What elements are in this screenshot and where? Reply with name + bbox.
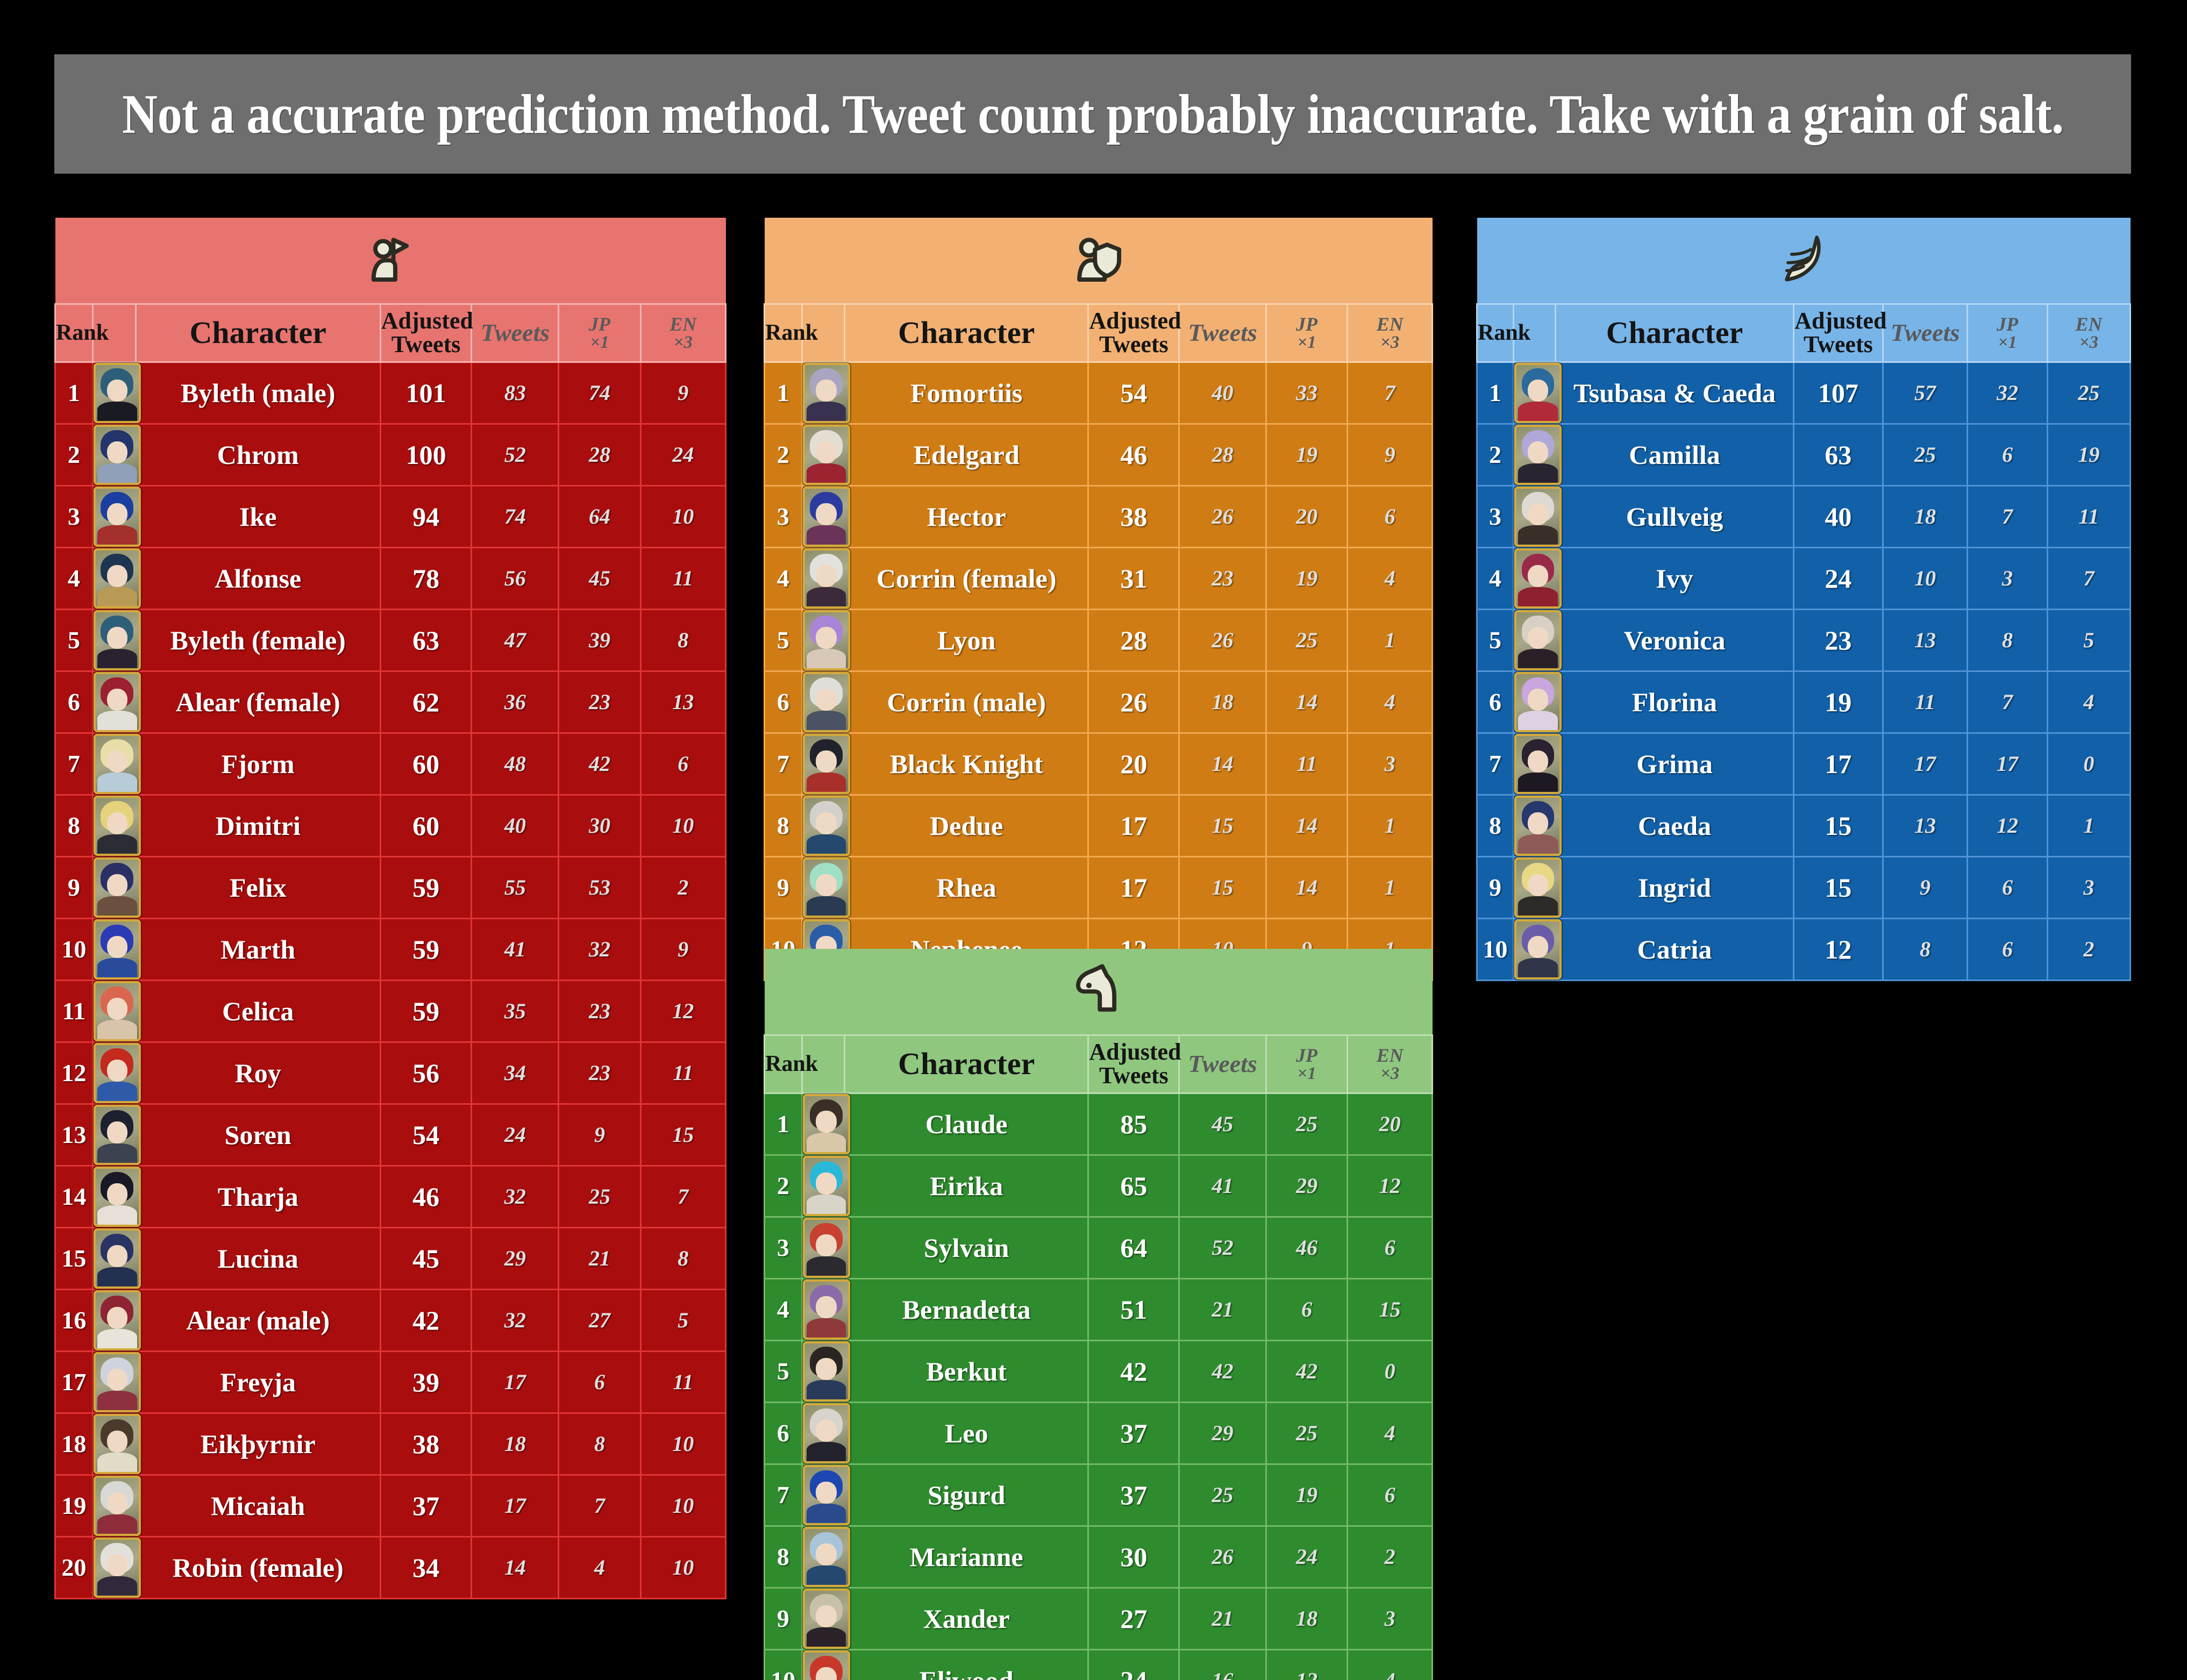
cell-adjusted-tweets: 12 — [1794, 918, 1883, 980]
cell-tweets: 29 — [472, 1227, 559, 1289]
avatar — [803, 1403, 850, 1463]
avatar — [94, 1105, 141, 1165]
table-row[interactable]: 2 Camilla 63 25 6 19 — [1477, 424, 2131, 485]
cell-jp-tweets: 6 — [1968, 856, 2047, 918]
cell-portrait — [92, 424, 136, 485]
cell-jp-tweets: 19 — [1266, 547, 1348, 609]
table-row[interactable]: 6 Leo 37 29 25 4 — [765, 1402, 1433, 1464]
cell-en-tweets: 10 — [640, 485, 725, 547]
cell-character-name: Alear (male) — [136, 1289, 380, 1351]
cell-adjusted-tweets: 101 — [380, 362, 472, 424]
cell-character-name: Ingrid — [1555, 856, 1793, 918]
table-row[interactable]: 15 Lucina 45 29 21 8 — [55, 1227, 726, 1289]
avatar — [94, 734, 141, 794]
cell-en-tweets: 10 — [640, 1536, 725, 1598]
cell-character-name: Sylvain — [845, 1217, 1088, 1278]
column-header-rank: Rank — [765, 1035, 802, 1093]
cell-portrait — [92, 1289, 136, 1351]
cell-rank: 10 — [55, 918, 93, 980]
cell-en-tweets: 9 — [640, 362, 725, 424]
table-row[interactable]: 1 Claude 85 45 25 20 — [765, 1093, 1433, 1155]
table-row[interactable]: 6 Corrin (male) 26 18 14 4 — [765, 671, 1433, 733]
column-header-tweets: Tweets — [1179, 1035, 1266, 1093]
cell-tweets: 34 — [472, 1042, 559, 1104]
avatar — [94, 610, 141, 670]
cell-en-tweets: 24 — [640, 424, 725, 485]
avatar — [94, 1476, 141, 1536]
table-header-row: Rank Character AdjustedTweets Tweets JP×… — [55, 304, 726, 362]
cell-tweets: 13 — [1883, 795, 1968, 856]
cell-adjusted-tweets: 100 — [380, 424, 472, 485]
cell-adjusted-tweets: 46 — [380, 1166, 472, 1227]
cell-portrait — [802, 1649, 844, 1680]
cell-adjusted-tweets: 64 — [1088, 1217, 1179, 1278]
cell-tweets: 25 — [1179, 1464, 1266, 1526]
cell-en-tweets: 20 — [1348, 1093, 1433, 1155]
table-header-row: Rank Character AdjustedTweets Tweets JP×… — [765, 1035, 1433, 1093]
cell-en-tweets: 11 — [640, 1351, 725, 1413]
ranking-table: Rank Character AdjustedTweets Tweets JP×… — [54, 218, 726, 1599]
table-row[interactable]: 10 Marth 59 41 32 9 — [55, 918, 726, 980]
cell-rank: 7 — [765, 1464, 802, 1526]
column-header-rank: Rank — [55, 304, 93, 362]
table-row[interactable]: 20 Robin (female) 34 14 4 10 — [55, 1536, 726, 1598]
table-row[interactable]: 14 Tharja 46 32 25 7 — [55, 1166, 726, 1227]
cell-adjusted-tweets: 46 — [1088, 424, 1179, 485]
cell-rank: 3 — [765, 485, 802, 547]
cell-rank: 4 — [1477, 547, 1514, 609]
avatar — [94, 1043, 141, 1103]
cell-en-tweets: 2 — [2047, 918, 2130, 980]
cell-jp-tweets: 25 — [1266, 1402, 1348, 1464]
cell-character-name: Corrin (male) — [845, 671, 1088, 733]
cell-adjusted-tweets: 31 — [1088, 547, 1179, 609]
cell-portrait — [802, 485, 844, 547]
cell-rank: 16 — [55, 1289, 93, 1351]
cell-rank: 2 — [1477, 424, 1514, 485]
cell-portrait — [92, 609, 136, 671]
cell-character-name: Alear (female) — [136, 671, 380, 733]
avatar — [94, 1352, 141, 1412]
cell-en-tweets: 13 — [640, 671, 725, 733]
cell-jp-tweets: 6 — [1968, 424, 2047, 485]
cell-character-name: Roy — [136, 1042, 380, 1104]
table-row[interactable]: 7 Fjorm 60 48 42 6 — [55, 733, 726, 795]
cell-rank: 1 — [765, 1093, 802, 1155]
cell-portrait — [802, 1155, 844, 1217]
avatar — [803, 857, 850, 918]
table-row[interactable]: 4 Bernadetta 51 21 6 15 — [765, 1278, 1433, 1340]
avatar — [94, 363, 141, 423]
cell-en-tweets: 6 — [1348, 1464, 1433, 1526]
table-type-banner — [765, 949, 1433, 1035]
cell-tweets: 47 — [472, 609, 559, 671]
table-row[interactable]: 6 Alear (female) 62 36 23 13 — [55, 671, 726, 733]
table-row[interactable]: 7 Grima 17 17 17 0 — [1477, 733, 2131, 795]
table-row[interactable]: 1 Byleth (male) 101 83 74 9 — [55, 362, 726, 424]
ranking-table: Rank Character AdjustedTweets Tweets JP×… — [764, 949, 1433, 1680]
cell-en-tweets: 5 — [640, 1289, 725, 1351]
cell-jp-tweets: 6 — [1266, 1278, 1348, 1340]
cell-rank: 12 — [55, 1042, 93, 1104]
cell-portrait — [92, 980, 136, 1042]
cell-rank: 7 — [55, 733, 93, 795]
table-row[interactable]: 8 Marianne 30 26 24 2 — [765, 1526, 1433, 1588]
table-row[interactable]: 13 Soren 54 24 9 15 — [55, 1104, 726, 1166]
cell-jp-tweets: 33 — [1266, 362, 1348, 424]
cell-tweets: 11 — [1883, 671, 1968, 733]
cell-jp-tweets: 14 — [1266, 856, 1348, 918]
cell-adjusted-tweets: 17 — [1088, 856, 1179, 918]
table-row[interactable]: 4 Alfonse 78 56 45 11 — [55, 547, 726, 609]
cell-portrait — [802, 1340, 844, 1402]
cell-portrait — [802, 1217, 844, 1278]
cell-jp-tweets: 12 — [1266, 1649, 1348, 1680]
flying-ranking-panel: Rank Character AdjustedTweets Tweets JP×… — [1476, 218, 2131, 981]
avatar — [803, 1650, 850, 1680]
cell-rank: 8 — [1477, 795, 1514, 856]
cell-portrait — [92, 1166, 136, 1227]
infantry-pawn-icon — [360, 229, 421, 289]
avatar — [1514, 610, 1562, 670]
flying-wing-icon — [1773, 229, 1834, 289]
cell-jp-tweets: 14 — [1266, 671, 1348, 733]
cell-tweets: 23 — [1179, 547, 1266, 609]
table-row[interactable]: 3 Sylvain 64 52 46 6 — [765, 1217, 1433, 1278]
table-row[interactable]: 8 Dedue 17 15 14 1 — [765, 795, 1433, 856]
cell-character-name: Dedue — [845, 795, 1088, 856]
cell-character-name: Gullveig — [1555, 485, 1793, 547]
cell-rank: 6 — [765, 1402, 802, 1464]
cell-rank: 9 — [765, 1588, 802, 1649]
avatar — [803, 1589, 850, 1649]
table-row[interactable]: 2 Eirika 65 41 29 12 — [765, 1155, 1433, 1217]
cell-jp-tweets: 25 — [559, 1166, 640, 1227]
cell-jp-tweets: 24 — [1266, 1526, 1348, 1588]
cell-tweets: 17 — [472, 1351, 559, 1413]
cell-character-name: Celica — [136, 980, 380, 1042]
table-row[interactable]: 9 Xander 27 21 18 3 — [765, 1588, 1433, 1649]
cell-jp-tweets: 23 — [559, 980, 640, 1042]
cell-character-name: Lucina — [136, 1227, 380, 1289]
cell-jp-tweets: 42 — [1266, 1340, 1348, 1402]
avatar — [803, 1218, 850, 1278]
cell-portrait — [802, 1093, 844, 1155]
cell-jp-tweets: 29 — [1266, 1155, 1348, 1217]
cell-rank: 7 — [765, 733, 802, 795]
cell-adjusted-tweets: 24 — [1794, 547, 1883, 609]
cell-rank: 1 — [765, 362, 802, 424]
cell-jp-tweets: 45 — [559, 547, 640, 609]
cell-en-tweets: 12 — [640, 980, 725, 1042]
column-header-character: Character — [845, 304, 1088, 362]
column-header-rank: Rank — [765, 304, 802, 362]
cell-adjusted-tweets: 15 — [1794, 795, 1883, 856]
cell-portrait — [802, 733, 844, 795]
cell-jp-tweets: 7 — [559, 1475, 640, 1536]
cell-jp-tweets: 19 — [1266, 1464, 1348, 1526]
table-row[interactable]: 10 Catria 12 8 6 2 — [1477, 918, 2131, 980]
cell-jp-tweets: 42 — [559, 733, 640, 795]
cell-jp-tweets: 25 — [1266, 609, 1348, 671]
cell-portrait — [802, 362, 844, 424]
table-row[interactable]: 19 Micaiah 37 17 7 10 — [55, 1475, 726, 1536]
cell-character-name: Felix — [136, 856, 380, 918]
cell-jp-tweets: 11 — [1266, 733, 1348, 795]
cell-tweets: 32 — [472, 1166, 559, 1227]
cell-en-tweets: 7 — [640, 1166, 725, 1227]
column-header-jp: JP×1 — [1266, 304, 1348, 362]
cell-tweets: 45 — [1179, 1093, 1266, 1155]
cell-jp-tweets: 23 — [559, 1042, 640, 1104]
cell-rank: 10 — [1477, 918, 1514, 980]
cell-jp-tweets: 21 — [559, 1227, 640, 1289]
cell-tweets: 24 — [472, 1104, 559, 1166]
cell-rank: 5 — [1477, 609, 1514, 671]
cell-adjusted-tweets: 38 — [1088, 485, 1179, 547]
cell-rank: 10 — [765, 1649, 802, 1680]
cell-en-tweets: 1 — [2047, 795, 2130, 856]
cell-character-name: Lyon — [845, 609, 1088, 671]
cell-character-name: Ivy — [1555, 547, 1793, 609]
cell-tweets: 10 — [1883, 547, 1968, 609]
table-row[interactable]: 10 Eliwood 24 16 12 4 — [765, 1649, 1433, 1680]
cell-tweets: 28 — [1179, 424, 1266, 485]
table-row[interactable]: 12 Roy 56 34 23 11 — [55, 1042, 726, 1104]
cell-rank: 6 — [1477, 671, 1514, 733]
cell-rank: 15 — [55, 1227, 93, 1289]
cell-character-name: Eikþyrnir — [136, 1413, 380, 1475]
cell-en-tweets: 7 — [2047, 547, 2130, 609]
cell-en-tweets: 0 — [2047, 733, 2130, 795]
cell-rank: 1 — [55, 362, 93, 424]
cell-rank: 4 — [765, 1278, 802, 1340]
cell-jp-tweets: 18 — [1266, 1588, 1348, 1649]
table-row[interactable]: 6 Florina 19 11 7 4 — [1477, 671, 2131, 733]
cell-jp-tweets: 8 — [1968, 609, 2047, 671]
cell-tweets: 40 — [472, 795, 559, 856]
cell-portrait — [1514, 856, 1556, 918]
cell-character-name: Byleth (male) — [136, 362, 380, 424]
armored-ranking-panel: Rank Character AdjustedTweets Tweets JP×… — [764, 218, 1433, 981]
avatar — [803, 1156, 850, 1216]
table-row[interactable]: 8 Dimitri 60 40 30 10 — [55, 795, 726, 856]
table-row[interactable]: 18 Eikþyrnir 38 18 8 10 — [55, 1413, 726, 1475]
cell-en-tweets: 11 — [2047, 485, 2130, 547]
cell-tweets: 18 — [472, 1413, 559, 1475]
cell-character-name: Fjorm — [136, 733, 380, 795]
table-row[interactable]: 2 Chrom 100 52 28 24 — [55, 424, 726, 485]
cell-tweets: 32 — [472, 1289, 559, 1351]
avatar — [1514, 734, 1562, 794]
column-header-rank: Rank — [1477, 304, 1514, 362]
cell-tweets: 15 — [1179, 856, 1266, 918]
cavalry-ranking-panel: Rank Character AdjustedTweets Tweets JP×… — [764, 949, 1433, 1680]
table-row[interactable]: 5 Lyon 28 26 25 1 — [765, 609, 1433, 671]
cell-rank: 5 — [765, 609, 802, 671]
cell-jp-tweets: 17 — [1968, 733, 2047, 795]
cell-jp-tweets: 32 — [1968, 362, 2047, 424]
avatar — [94, 1414, 141, 1474]
table-row[interactable]: 3 Hector 38 26 20 6 — [765, 485, 1433, 547]
cell-tweets: 29 — [1179, 1402, 1266, 1464]
column-header-adjusted-tweets: AdjustedTweets — [1794, 304, 1883, 362]
cell-character-name: Corrin (female) — [845, 547, 1088, 609]
cell-tweets: 21 — [1179, 1588, 1266, 1649]
table-row[interactable]: 2 Edelgard 46 28 19 9 — [765, 424, 1433, 485]
cell-adjusted-tweets: 54 — [1088, 362, 1179, 424]
cell-jp-tweets: 4 — [559, 1536, 640, 1598]
cell-adjusted-tweets: 27 — [1088, 1588, 1179, 1649]
cell-character-name: Catria — [1555, 918, 1793, 980]
cell-tweets: 55 — [472, 856, 559, 918]
cell-character-name: Tsubasa & Caeda — [1555, 362, 1793, 424]
table-row[interactable]: 5 Berkut 42 42 42 0 — [765, 1340, 1433, 1402]
cell-jp-tweets: 9 — [559, 1104, 640, 1166]
column-header-character: Character — [1555, 304, 1793, 362]
cell-tweets: 35 — [472, 980, 559, 1042]
table-row[interactable]: 9 Felix 59 55 53 2 — [55, 856, 726, 918]
cell-en-tweets: 25 — [2047, 362, 2130, 424]
table-type-banner — [765, 218, 1433, 304]
cell-character-name: Berkut — [845, 1340, 1088, 1402]
table-row[interactable]: 3 Ike 94 74 64 10 — [55, 485, 726, 547]
table-row[interactable]: 5 Veronica 23 13 8 5 — [1477, 609, 2131, 671]
column-header-jp: JP×1 — [1266, 1035, 1348, 1093]
cell-en-tweets: 15 — [640, 1104, 725, 1166]
table-row[interactable]: 1 Tsubasa & Caeda 107 57 32 25 — [1477, 362, 2131, 424]
cell-character-name: Freyja — [136, 1351, 380, 1413]
cell-jp-tweets: 3 — [1968, 547, 2047, 609]
table-row[interactable]: 17 Freyja 39 17 6 11 — [55, 1351, 726, 1413]
cell-character-name: Rhea — [845, 856, 1088, 918]
table-row[interactable]: 5 Byleth (female) 63 47 39 8 — [55, 609, 726, 671]
cell-adjusted-tweets: 37 — [380, 1475, 472, 1536]
column-header-tweets: Tweets — [472, 304, 559, 362]
column-header-en: EN×3 — [640, 304, 725, 362]
cell-portrait — [1514, 547, 1556, 609]
cell-rank: 9 — [765, 856, 802, 918]
cell-portrait — [802, 1402, 844, 1464]
cell-rank: 4 — [765, 547, 802, 609]
cell-adjusted-tweets: 38 — [380, 1413, 472, 1475]
cell-character-name: Hector — [845, 485, 1088, 547]
table-row[interactable]: 3 Gullveig 40 18 7 11 — [1477, 485, 2131, 547]
avatar — [1514, 857, 1562, 918]
avatar — [803, 610, 850, 670]
cell-portrait — [802, 856, 844, 918]
table-row[interactable]: 7 Black Knight 20 14 11 3 — [765, 733, 1433, 795]
cell-adjusted-tweets: 51 — [1088, 1278, 1179, 1340]
cell-en-tweets: 4 — [1348, 1402, 1433, 1464]
cell-character-name: Black Knight — [845, 733, 1088, 795]
cell-jp-tweets: 23 — [559, 671, 640, 733]
avatar — [1514, 363, 1562, 423]
avatar — [803, 1279, 850, 1340]
cell-adjusted-tweets: 60 — [380, 795, 472, 856]
table-row[interactable]: 11 Celica 59 35 23 12 — [55, 980, 726, 1042]
cell-portrait — [1514, 733, 1556, 795]
cell-en-tweets: 10 — [640, 795, 725, 856]
table-row[interactable]: 8 Caeda 15 13 12 1 — [1477, 795, 2131, 856]
cell-portrait — [92, 1227, 136, 1289]
table-row[interactable]: 9 Rhea 17 15 14 1 — [765, 856, 1433, 918]
cell-adjusted-tweets: 42 — [1088, 1340, 1179, 1402]
cell-en-tweets: 3 — [1348, 733, 1433, 795]
cell-en-tweets: 1 — [1348, 856, 1433, 918]
cell-jp-tweets: 7 — [1968, 485, 2047, 547]
cell-character-name: Xander — [845, 1588, 1088, 1649]
cell-character-name: Tharja — [136, 1166, 380, 1227]
cell-adjusted-tweets: 107 — [1794, 362, 1883, 424]
cell-character-name: Robin (female) — [136, 1536, 380, 1598]
cell-en-tweets: 1 — [1348, 609, 1433, 671]
cell-jp-tweets: 30 — [559, 795, 640, 856]
avatar — [1514, 548, 1562, 609]
disclaimer-banner: Not a accurate prediction method. Tweet … — [54, 54, 2131, 174]
cell-portrait — [1514, 671, 1556, 733]
cell-tweets: 25 — [1883, 424, 1968, 485]
cell-jp-tweets: 6 — [1968, 918, 2047, 980]
avatar — [1514, 796, 1562, 856]
cell-portrait — [802, 1526, 844, 1588]
avatar — [803, 1527, 850, 1587]
cell-en-tweets: 6 — [1348, 1217, 1433, 1278]
cell-tweets: 15 — [1179, 795, 1266, 856]
cavalry-horse-icon — [1068, 960, 1129, 1020]
cell-tweets: 48 — [472, 733, 559, 795]
cell-jp-tweets: 46 — [1266, 1217, 1348, 1278]
cell-rank: 14 — [55, 1166, 93, 1227]
cell-adjusted-tweets: 54 — [380, 1104, 472, 1166]
cell-en-tweets: 9 — [640, 918, 725, 980]
cell-character-name: Sigurd — [845, 1464, 1088, 1526]
cell-en-tweets: 4 — [1348, 547, 1433, 609]
table-row[interactable]: 4 Ivy 24 10 3 7 — [1477, 547, 2131, 609]
cell-rank: 1 — [1477, 362, 1514, 424]
cell-tweets: 21 — [1179, 1278, 1266, 1340]
cell-portrait — [92, 1042, 136, 1104]
table-row[interactable]: 16 Alear (male) 42 32 27 5 — [55, 1289, 726, 1351]
cell-jp-tweets: 6 — [559, 1351, 640, 1413]
cell-tweets: 36 — [472, 671, 559, 733]
cell-character-name: Chrom — [136, 424, 380, 485]
table-row[interactable]: 4 Corrin (female) 31 23 19 4 — [765, 547, 1433, 609]
cell-portrait — [92, 547, 136, 609]
ranking-table: Rank Character AdjustedTweets Tweets JP×… — [764, 218, 1433, 981]
cell-portrait — [92, 1475, 136, 1536]
cell-character-name: Marth — [136, 918, 380, 980]
cell-character-name: Caeda — [1555, 795, 1793, 856]
cell-en-tweets: 11 — [640, 1042, 725, 1104]
cell-jp-tweets: 27 — [559, 1289, 640, 1351]
cell-tweets: 41 — [472, 918, 559, 980]
cell-character-name: Dimitri — [136, 795, 380, 856]
cell-rank: 2 — [765, 1155, 802, 1217]
cell-tweets: 52 — [1179, 1217, 1266, 1278]
cell-adjusted-tweets: 34 — [380, 1536, 472, 1598]
avatar — [1514, 487, 1562, 547]
table-row[interactable]: 7 Sigurd 37 25 19 6 — [765, 1464, 1433, 1526]
cell-en-tweets: 15 — [1348, 1278, 1433, 1340]
table-row[interactable]: 1 Fomortiis 54 40 33 7 — [765, 362, 1433, 424]
table-row[interactable]: 9 Ingrid 15 9 6 3 — [1477, 856, 2131, 918]
cell-en-tweets: 2 — [1348, 1526, 1433, 1588]
avatar — [94, 796, 141, 856]
cell-rank: 6 — [765, 671, 802, 733]
cell-jp-tweets: 14 — [1266, 795, 1348, 856]
cell-portrait — [92, 795, 136, 856]
